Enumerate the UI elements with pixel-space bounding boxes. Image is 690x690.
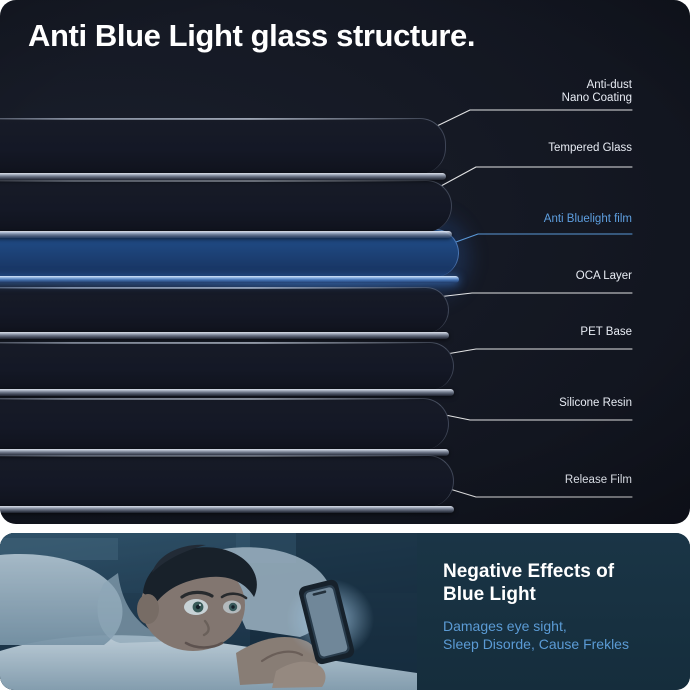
layer-label-anti-bluelight-film: Anti Bluelight film	[452, 213, 632, 226]
layer-edge	[0, 231, 452, 238]
layer-sheen	[0, 398, 423, 400]
banner-subtitle: Damages eye sight, Sleep Disorde, Cause …	[443, 617, 629, 653]
banner-copy: Negative Effects of Blue Light Damages e…	[417, 533, 690, 690]
layer-face	[0, 398, 449, 450]
layer-face	[0, 287, 449, 333]
negative-effects-banner: Negative Effects of Blue Light Damages e…	[0, 533, 690, 690]
glass-layer-anti-dust-nano-coating	[0, 118, 446, 174]
layer-edge	[0, 389, 454, 396]
glass-layer-pet-base	[0, 342, 454, 390]
layer-sheen	[0, 342, 428, 344]
man-in-bed-illustration	[0, 533, 417, 690]
glass-layer-tempered-glass	[0, 180, 452, 232]
layer-face	[0, 342, 454, 390]
layer-edge	[0, 449, 449, 456]
layer-face	[0, 455, 454, 507]
layer-label-anti-dust-nano-coating: Anti-dust Nano Coating	[452, 79, 632, 105]
layer-edge	[0, 332, 449, 339]
glass-structure-panel: Anti-dust Nano CoatingTempered GlassAnti…	[0, 0, 690, 524]
infographic-root: Anti-dust Nano CoatingTempered GlassAnti…	[0, 0, 690, 690]
banner-photo	[0, 533, 417, 690]
glass-layer-release-film	[0, 455, 454, 507]
layer-edge	[0, 173, 446, 180]
layer-edge	[0, 506, 454, 513]
glass-layer-oca-layer	[0, 287, 449, 333]
layer-sheen	[0, 118, 420, 120]
layer-sheen	[0, 287, 423, 289]
layer-face	[0, 180, 452, 232]
layer-label-tempered-glass: Tempered Glass	[452, 142, 632, 155]
layer-edge	[0, 276, 459, 283]
layer-face	[0, 118, 446, 174]
layer-sheen	[0, 180, 426, 182]
page-title: Anti Blue Light glass structure.	[28, 18, 475, 54]
banner-title: Negative Effects of Blue Light	[443, 560, 614, 606]
layer-label-pet-base: PET Base	[452, 326, 632, 339]
layer-label-silicone-resin: Silicone Resin	[452, 397, 632, 410]
glass-layer-silicone-resin	[0, 398, 449, 450]
layer-label-oca-layer: OCA Layer	[452, 270, 632, 283]
layer-label-release-film: Release Film	[452, 474, 632, 487]
